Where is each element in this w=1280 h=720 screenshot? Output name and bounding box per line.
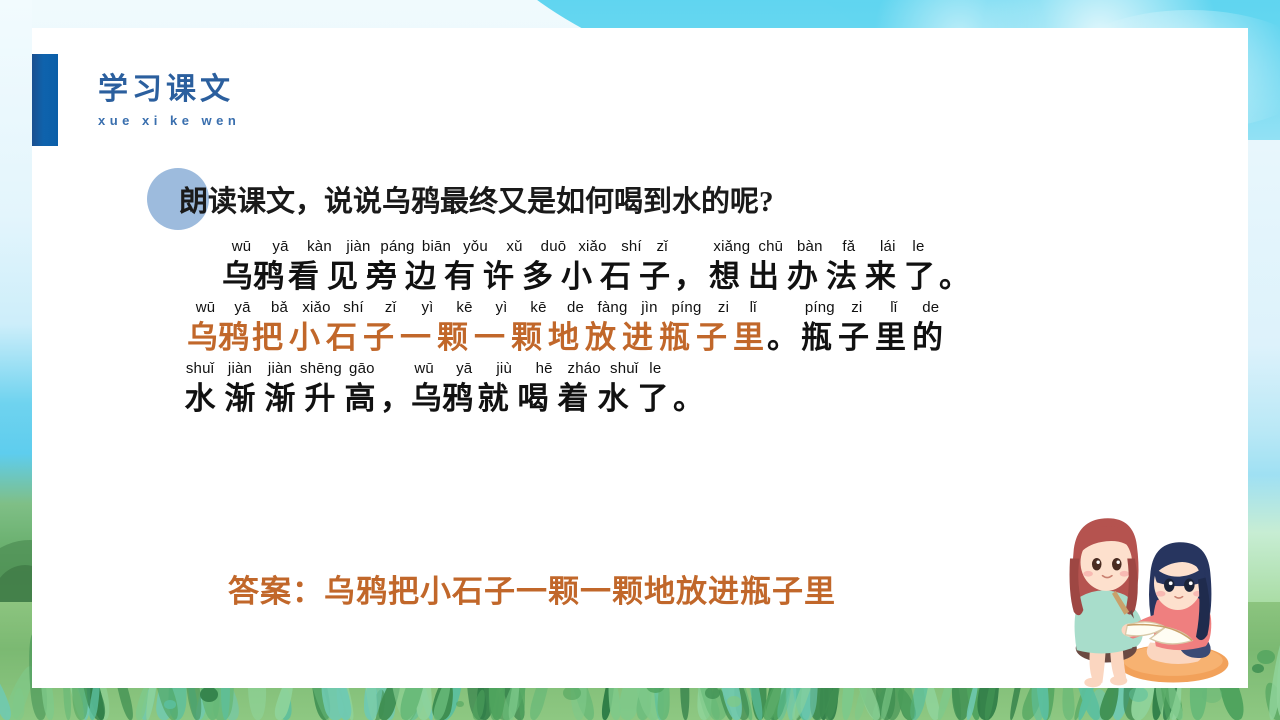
hanzi-token: 子 <box>635 257 674 297</box>
pinyin-token: xǔ <box>495 238 534 257</box>
hanzi-token: 把 <box>249 318 286 358</box>
hanzi-token: 乌鸦 <box>222 257 284 297</box>
pinyin-token: yā <box>261 238 300 257</box>
hanzi-token: 放 <box>582 318 619 358</box>
hanzi-token: 里 <box>872 318 909 358</box>
pinyin-row: wūyākànjiànpángbiānyǒuxǔduōxiǎoshízǐxiǎn… <box>222 238 1248 257</box>
lesson-line: wūyākànjiànpángbiānyǒuxǔduōxiǎoshízǐxiǎn… <box>32 238 1248 297</box>
question-row: 朗读课文，说说乌鸦最终又是如何喝到水的呢? <box>147 168 774 230</box>
pinyin-row: wūyābǎxiǎoshízǐyìkēyìkēdefàngjìnpíngzilǐ… <box>187 299 1248 318</box>
hanzi-token: 地 <box>545 318 582 358</box>
pinyin-token: shí <box>335 299 372 318</box>
pinyin-token: fǎ <box>829 238 868 257</box>
leaf-dot <box>164 700 175 709</box>
hanzi-row: 乌鸦把小石子一颗一颗地放进瓶子里。瓶子里的 <box>187 318 1248 358</box>
hanzi-token: 进 <box>619 318 656 358</box>
pinyin-token: kàn <box>300 238 339 257</box>
pinyin-token: xiǎo <box>573 238 612 257</box>
pinyin-token: jiàn <box>339 238 378 257</box>
hanzi-token: 旁 <box>362 257 401 297</box>
hanzi-token: 升 <box>300 379 340 419</box>
leaf-dot <box>705 687 720 699</box>
pinyin-token: shēng <box>300 360 342 379</box>
pinyin-row: shuǐjiànjiànshēnggāowūyājiùhēzháoshuǐle <box>180 360 1248 379</box>
pinyin-token: le <box>907 238 929 257</box>
pinyin-token: wū <box>222 238 261 257</box>
hanzi-token: 来 <box>861 257 900 297</box>
pinyin-token: píng <box>801 299 838 318</box>
hanzi-token: 颗 <box>434 318 471 358</box>
slide-content-card: 学习课文 xue xi ke wen 朗读课文，说说乌鸦最终又是如何喝到水的呢?… <box>32 28 1248 688</box>
hanzi-token: 就 <box>473 379 513 419</box>
pinyin-token: zǐ <box>372 299 409 318</box>
hanzi-token: 多 <box>518 257 557 297</box>
pinyin-token: jiàn <box>220 360 260 379</box>
pinyin-token: yì <box>483 299 520 318</box>
hanzi-token: 。 <box>939 257 970 297</box>
two-girls-reading-illustration <box>1028 507 1238 692</box>
hanzi-token: ， <box>674 257 705 297</box>
hanzi-token: 有 <box>440 257 479 297</box>
question-heading: 朗读课文，说说乌鸦最终又是如何喝到水的呢? <box>179 178 774 220</box>
pinyin-token: kē <box>446 299 483 318</box>
leaf-dot <box>1257 650 1275 665</box>
hanzi-token: ， <box>380 379 411 419</box>
hanzi-token: 着 <box>553 379 593 419</box>
hanzi-token: 许 <box>479 257 518 297</box>
lesson-line: wūyābǎxiǎoshízǐyìkēyìkēdefàngjìnpíngzilǐ… <box>32 299 1248 358</box>
hanzi-token: 水 <box>180 379 220 419</box>
hanzi-token: 一 <box>397 318 434 358</box>
pinyin-token: yā <box>224 299 261 318</box>
leaf-dot <box>1252 664 1264 673</box>
page-title: 学习课文 <box>98 73 240 106</box>
hanzi-token: 渐 <box>220 379 260 419</box>
pinyin-token: shí <box>612 238 651 257</box>
pinyin-token: chū <box>751 238 790 257</box>
title-accent-bar <box>32 54 58 146</box>
pinyin-token <box>673 238 712 257</box>
pinyin-token: jiù <box>484 360 524 379</box>
pinyin-token: shuǐ <box>180 360 220 379</box>
hanzi-token: 的 <box>909 318 946 358</box>
pinyin-token: píng <box>668 299 705 318</box>
section-title-block: 学习课文 xue xi ke wen <box>32 54 240 146</box>
hanzi-token: 。 <box>767 318 798 358</box>
hanzi-token: 小 <box>286 318 323 358</box>
hanzi-token: 子 <box>835 318 872 358</box>
pinyin-token: yì <box>409 299 446 318</box>
pinyin-token: duō <box>534 238 573 257</box>
pinyin-token: gāo <box>342 360 382 379</box>
pinyin-token: zi <box>705 299 742 318</box>
pinyin-token: zháo <box>564 360 604 379</box>
hanzi-token: 石 <box>323 318 360 358</box>
hanzi-token: 。 <box>673 379 704 419</box>
lesson-line: shuǐjiànjiànshēnggāowūyājiùhēzháoshuǐle水… <box>32 360 1248 419</box>
pinyin-token: yā <box>444 360 484 379</box>
pinyin-token: páng <box>378 238 417 257</box>
hanzi-token: 石 <box>596 257 635 297</box>
hanzi-token: 看 <box>284 257 323 297</box>
lesson-text-body: wūyākànjiànpángbiānyǒuxǔduōxiǎoshízǐxiǎn… <box>32 238 1248 421</box>
hanzi-row: 乌鸦看见旁边有许多小石子，想出办法来了。 <box>222 257 1248 297</box>
hanzi-token: 边 <box>401 257 440 297</box>
hanzi-token: 颗 <box>508 318 545 358</box>
pinyin-token: biān <box>417 238 456 257</box>
pinyin-token: jiàn <box>260 360 300 379</box>
pinyin-token: yǒu <box>456 238 495 257</box>
page-subtitle: xue xi ke wen <box>98 113 240 128</box>
hanzi-token: 高 <box>340 379 380 419</box>
pinyin-token: bàn <box>790 238 829 257</box>
hanzi-token: 出 <box>744 257 783 297</box>
pinyin-token: wū <box>404 360 444 379</box>
hanzi-row: 水渐渐升高，乌鸦就喝着水了。 <box>180 379 1248 419</box>
pinyin-token: xiǎo <box>298 299 335 318</box>
hanzi-token: 里 <box>730 318 767 358</box>
hanzi-token: 乌鸦 <box>411 379 473 419</box>
hanzi-token: 办 <box>783 257 822 297</box>
hanzi-token: 法 <box>822 257 861 297</box>
hanzi-token: 了 <box>633 379 673 419</box>
hanzi-token: 了 <box>900 257 939 297</box>
hanzi-token: 小 <box>557 257 596 297</box>
pinyin-token: kē <box>520 299 557 318</box>
pinyin-token: lǐ <box>742 299 764 318</box>
hanzi-token: 水 <box>593 379 633 419</box>
hanzi-token: 喝 <box>513 379 553 419</box>
pinyin-token: de <box>912 299 949 318</box>
hanzi-token: 瓶 <box>656 318 693 358</box>
pinyin-token: lǐ <box>875 299 912 318</box>
pinyin-token <box>764 299 801 318</box>
pinyin-token: shuǐ <box>604 360 644 379</box>
hanzi-token: 乌鸦 <box>187 318 249 358</box>
pinyin-token: hē <box>524 360 564 379</box>
pinyin-token: lái <box>868 238 907 257</box>
pinyin-token: fàng <box>594 299 631 318</box>
pinyin-token: zi <box>838 299 875 318</box>
answer-line: 答案：乌鸦把小石子一颗一颗地放进瓶子里 <box>228 566 836 611</box>
hanzi-token: 渐 <box>260 379 300 419</box>
pinyin-token <box>382 360 404 379</box>
pinyin-token: xiǎng <box>712 238 751 257</box>
leaf-dot <box>200 687 218 702</box>
hanzi-token: 瓶 <box>798 318 835 358</box>
hanzi-token: 子 <box>693 318 730 358</box>
leaf-dot <box>456 701 464 708</box>
hanzi-token: 见 <box>323 257 362 297</box>
pinyin-token: de <box>557 299 594 318</box>
hanzi-token: 一 <box>471 318 508 358</box>
hanzi-token: 想 <box>705 257 744 297</box>
pinyin-token: le <box>644 360 666 379</box>
pinyin-token: jìn <box>631 299 668 318</box>
pinyin-token: bǎ <box>261 299 298 318</box>
pinyin-token: wū <box>187 299 224 318</box>
hanzi-token: 子 <box>360 318 397 358</box>
pinyin-token: zǐ <box>651 238 673 257</box>
